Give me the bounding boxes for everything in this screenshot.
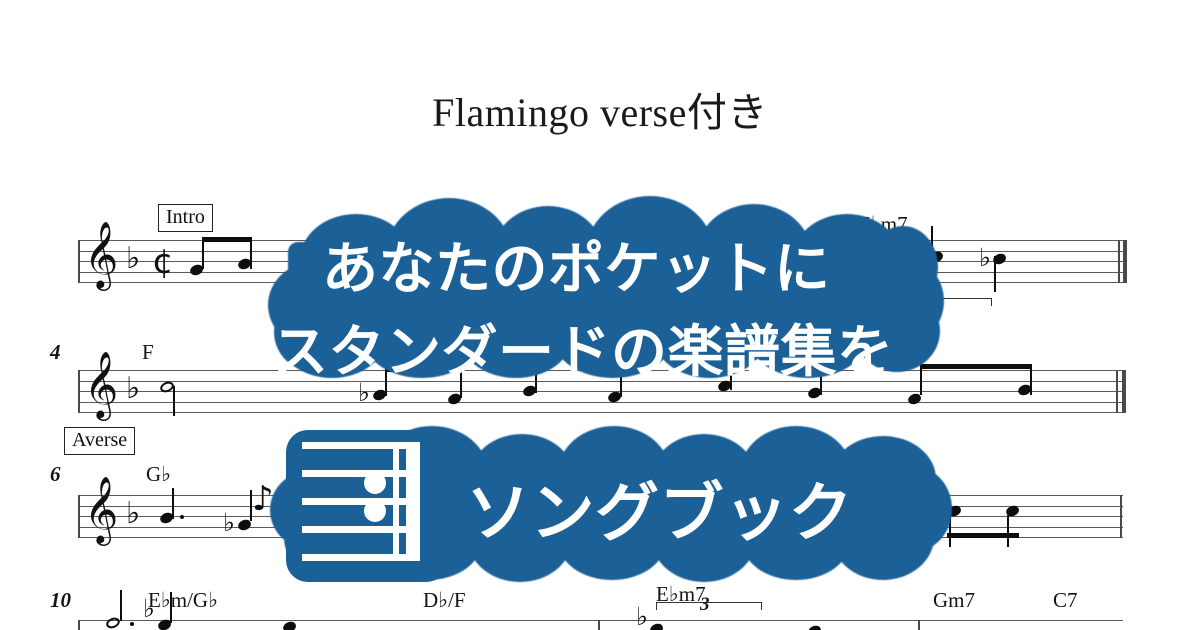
rehearsal-mark-intro: Intro: [158, 204, 213, 232]
chord-symbol: E♭m/G♭: [148, 588, 218, 613]
chord-symbol: C7: [1053, 588, 1078, 613]
chord-symbol: F: [142, 340, 154, 365]
songbook-logo: [286, 430, 448, 582]
page-root: Flamingo verse付き 𝄞 ♭ ¢: [0, 0, 1200, 630]
time-signature: ¢: [152, 245, 174, 279]
tuplet-number: 3: [700, 594, 710, 616]
headline-line-2: スタンダードの楽譜集を: [272, 307, 894, 388]
treble-clef-icon: 𝄞: [84, 355, 118, 413]
staff-system-4: 10 E♭m/G♭ D♭/F E♭m7 3 Gm7 C7 ♭ ♭: [78, 620, 1123, 630]
measure-number: 4: [50, 340, 61, 365]
key-signature: ♭: [126, 374, 140, 404]
key-signature: ♭: [126, 499, 140, 529]
key-signature: ♭: [126, 244, 140, 274]
chord-symbol: G♭: [146, 462, 171, 487]
measure-number: 6: [50, 462, 61, 487]
brand-name: ソングブック: [466, 462, 853, 554]
staff-lines-4: [78, 620, 1123, 630]
measure-number: 10: [50, 588, 71, 613]
repeat-sign-staff-icon: [286, 430, 448, 582]
chord-symbol: Gm7: [933, 588, 975, 613]
chord-symbol: D♭/F: [423, 588, 466, 613]
headline-line-1: あなたのポケットに: [322, 224, 831, 305]
rehearsal-mark-averse: Averse: [64, 427, 135, 455]
treble-clef-icon: 𝄞: [84, 225, 118, 283]
treble-clef-icon: 𝄞: [84, 480, 118, 538]
